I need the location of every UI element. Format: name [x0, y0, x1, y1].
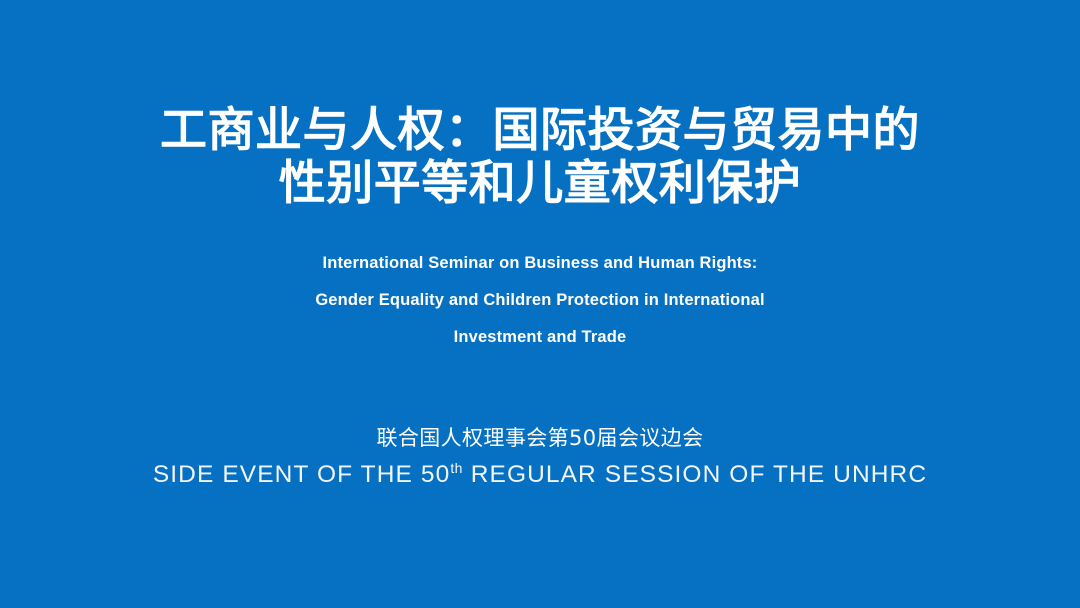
subtitle-line-3: Investment and Trade — [0, 319, 1080, 356]
presentation-slide: 工商业与人权：国际投资与贸易中的 性别平等和儿童权利保护 Internation… — [0, 0, 1080, 608]
footer-english-prefix: SIDE EVENT OF THE 50 — [153, 461, 450, 488]
subtitle-line-2: Gender Equality and Children Protection … — [0, 282, 1080, 319]
title-line-2: 性别平等和儿童权利保护 — [0, 157, 1080, 210]
slide-subtitle: International Seminar on Business and Hu… — [0, 245, 1080, 356]
subtitle-line-1: International Seminar on Business and Hu… — [0, 245, 1080, 282]
footer-english-suffix: REGULAR SESSION OF THE UNHRC — [463, 461, 927, 488]
footer-english-line: SIDE EVENT OF THE 50th REGULAR SESSION O… — [0, 452, 1080, 491]
slide-footer: 联合国人权理事会第50届会议边会 SIDE EVENT OF THE 50th … — [0, 424, 1080, 491]
title-line-1: 工商业与人权：国际投资与贸易中的 — [0, 104, 1080, 157]
footer-ordinal-suffix: th — [450, 460, 462, 476]
slide-title: 工商业与人权：国际投资与贸易中的 性别平等和儿童权利保护 — [0, 104, 1080, 210]
footer-chinese-line: 联合国人权理事会第50届会议边会 — [0, 424, 1080, 452]
